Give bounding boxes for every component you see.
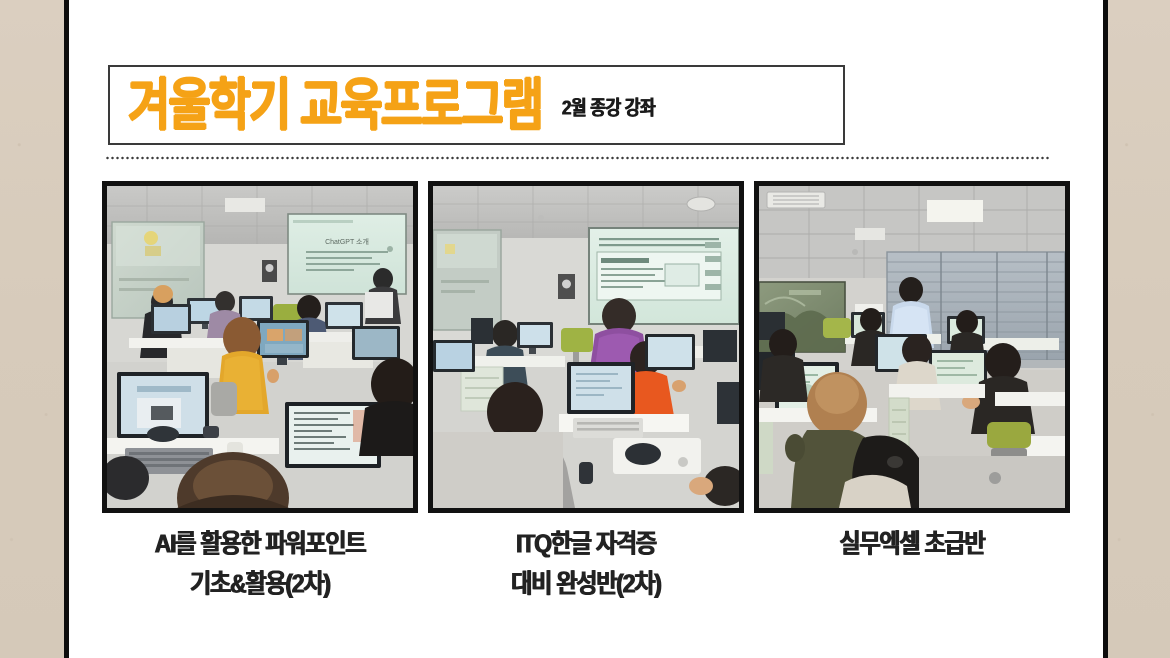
title-banner: 겨울학기 교육프로그램 2월 종강 강좌 (108, 65, 845, 145)
paper-texture-right (1108, 0, 1170, 658)
classroom-illustration-3 (759, 186, 1065, 508)
course-caption-2-line1: ITQ한글 자격증 (428, 524, 744, 564)
page-title: 겨울학기 교육프로그램 (128, 77, 542, 133)
photo-gallery: ChatGPT 소개 (102, 181, 1070, 513)
classroom-illustration-2 (433, 186, 739, 508)
paper-texture-left (0, 0, 64, 658)
classroom-illustration-1: ChatGPT 소개 (107, 186, 413, 508)
poster-page: 겨울학기 교육프로그램 2월 종강 강좌 (69, 0, 1103, 658)
course-caption-2-line2: 대비 완성반(2차) (428, 564, 744, 604)
course-caption-3: 실무엑셀 초급반 (754, 524, 1070, 604)
course-photo-2[interactable] (428, 181, 744, 513)
course-caption-3-line1: 실무엑셀 초급반 (754, 524, 1070, 564)
page-subtitle: 2월 종강 강좌 (562, 90, 655, 120)
dotted-divider (105, 156, 1049, 160)
right-black-rule (1103, 0, 1108, 658)
poster-root: 겨울학기 교육프로그램 2월 종강 강좌 (0, 0, 1170, 658)
svg-text:ChatGPT 소개: ChatGPT 소개 (325, 237, 369, 246)
course-caption-2: ITQ한글 자격증 대비 완성반(2차) (428, 524, 744, 604)
caption-row: AI를 활용한 파워포인트 기초&활용(2차) ITQ한글 자격증 대비 완성반… (102, 524, 1070, 594)
course-photo-3[interactable] (754, 181, 1070, 513)
course-caption-1-line2: 기초&활용(2차) (102, 564, 418, 604)
course-photo-1[interactable]: ChatGPT 소개 (102, 181, 418, 513)
course-caption-1: AI를 활용한 파워포인트 기초&활용(2차) (102, 524, 418, 604)
course-caption-1-line1: AI를 활용한 파워포인트 (102, 524, 418, 564)
